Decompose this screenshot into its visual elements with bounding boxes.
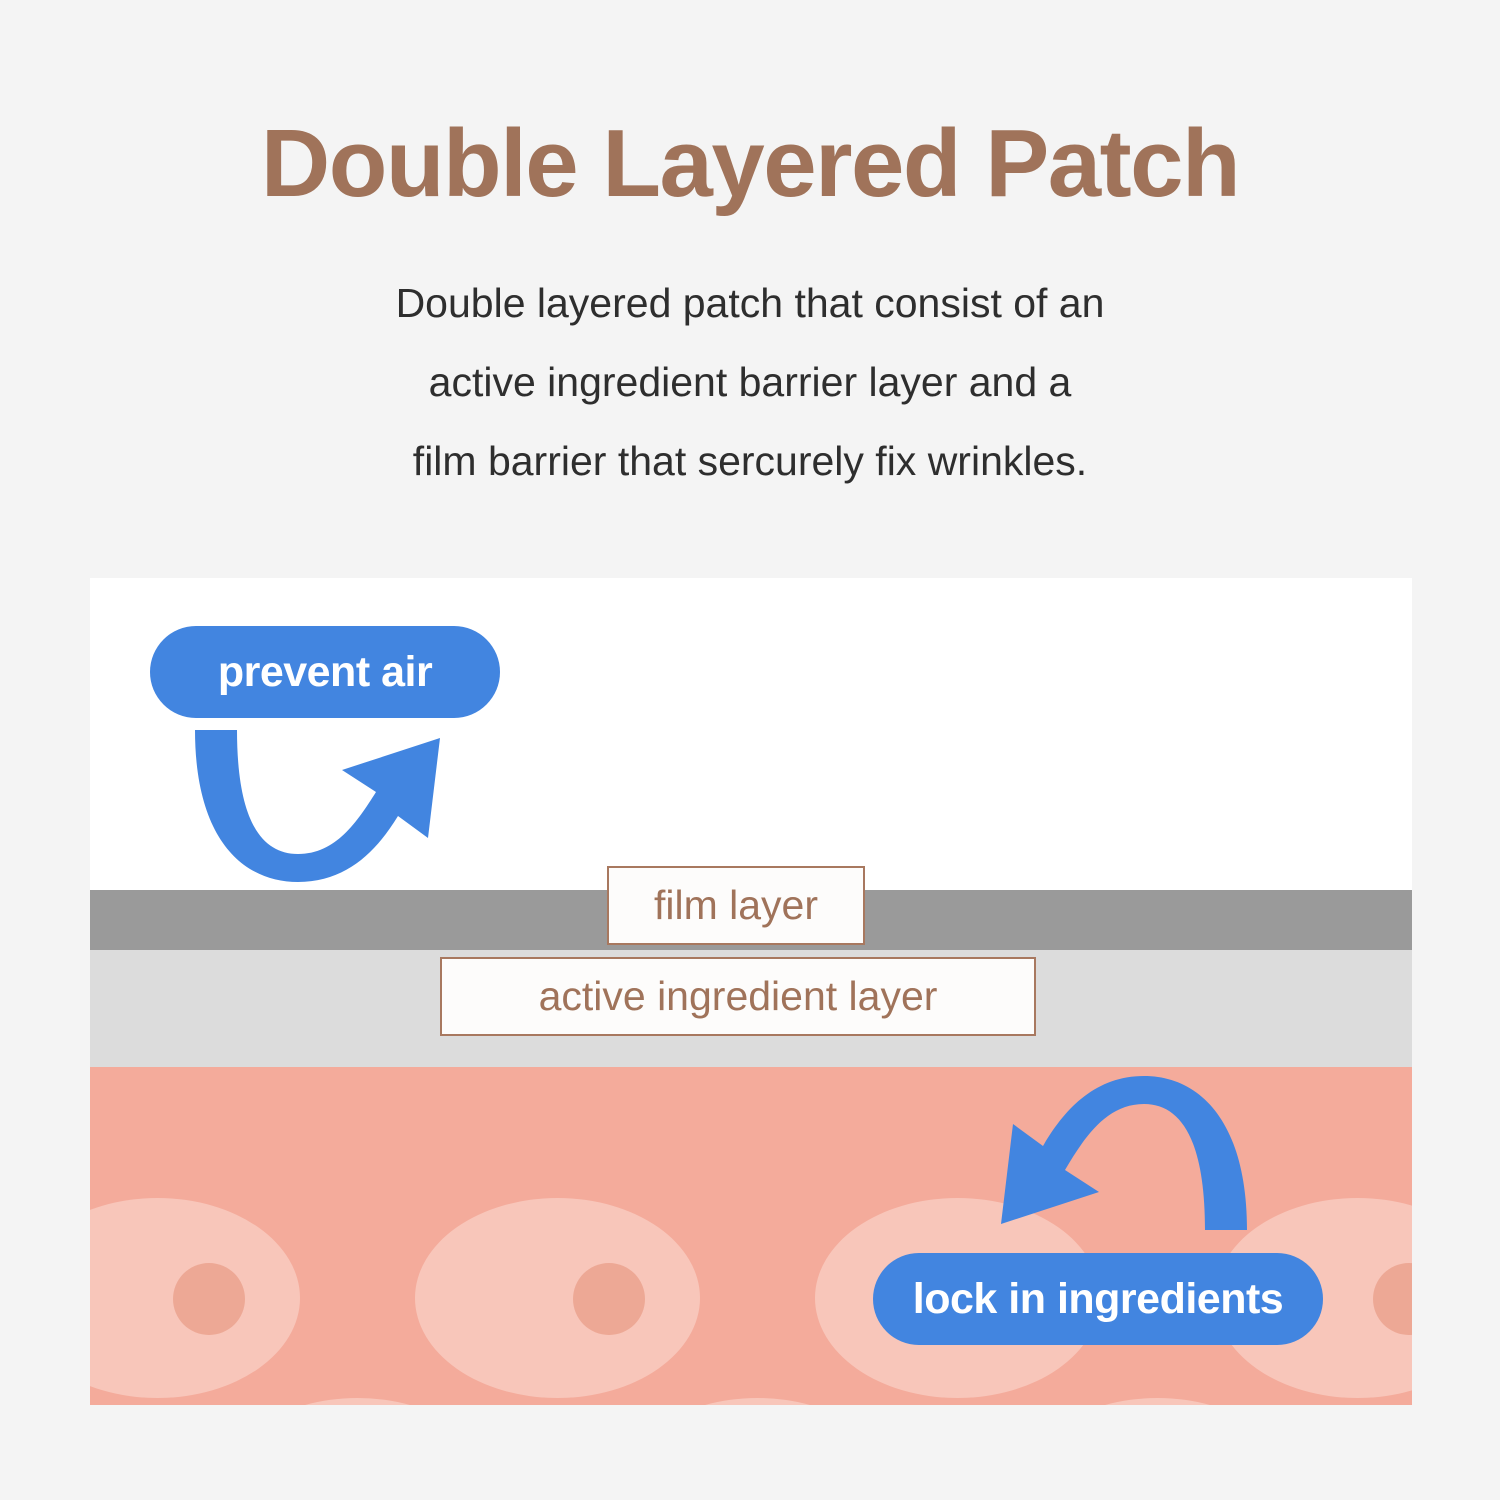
film-layer-label: film layer bbox=[607, 866, 865, 945]
prevent-air-badge-text: prevent air bbox=[218, 648, 432, 697]
page-subtitle: Double layered patch that consist of an … bbox=[396, 264, 1105, 501]
page-title: Double Layered Patch bbox=[261, 116, 1239, 212]
skin-cell bbox=[1015, 1398, 1300, 1405]
curved-up-right-arrow-icon bbox=[190, 730, 480, 900]
active-ingredient-layer-label-text: active ingredient layer bbox=[539, 976, 938, 1017]
subtitle-line-1: Double layered patch that consist of an bbox=[396, 264, 1105, 343]
skin-cell-nucleus bbox=[573, 1263, 645, 1335]
subtitle-line-2: active ingredient barrier layer and a bbox=[396, 343, 1105, 422]
skin-cell bbox=[215, 1398, 500, 1405]
lock-in-ingredients-badge: lock in ingredients bbox=[873, 1253, 1323, 1345]
skin-cell bbox=[90, 1398, 100, 1405]
skin-cell bbox=[415, 1198, 700, 1398]
header-section: Double Layered Patch Double layered patc… bbox=[0, 0, 1500, 578]
skin-cell-nucleus bbox=[173, 1263, 245, 1335]
film-layer-label-text: film layer bbox=[654, 885, 818, 926]
skin-cell bbox=[615, 1398, 900, 1405]
lock-in-ingredients-badge-text: lock in ingredients bbox=[913, 1275, 1283, 1324]
active-ingredient-layer-label: active ingredient layer bbox=[440, 957, 1036, 1036]
prevent-air-badge: prevent air bbox=[150, 626, 500, 718]
subtitle-line-3: film barrier that sercurely fix wrinkles… bbox=[396, 422, 1105, 501]
curved-down-left-arrow-icon bbox=[962, 1058, 1252, 1233]
patch-cross-section-diagram: film layer active ingredient layer preve… bbox=[90, 578, 1412, 1405]
